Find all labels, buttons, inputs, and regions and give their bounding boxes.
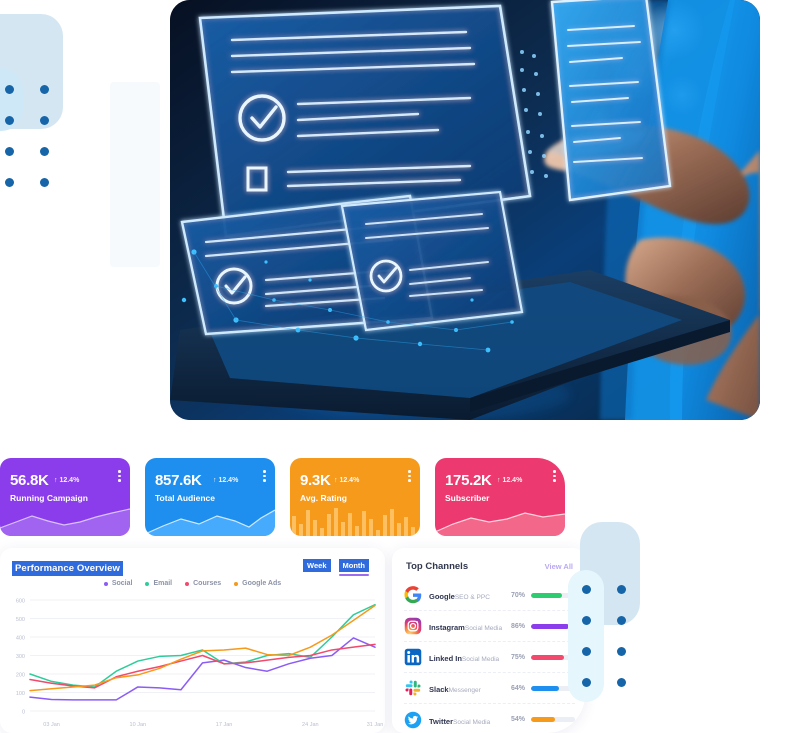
stat-card-row: 56.8K ↑ 12.4% Running Campaign 857.6K ↑ … xyxy=(0,458,585,536)
kebab-menu-icon[interactable] xyxy=(118,470,121,482)
stat-card-subscriber[interactable]: 175.2K ↑ 12.4% Subscriber xyxy=(435,458,565,536)
legend-label: Courses xyxy=(193,580,221,587)
dot-icon xyxy=(617,585,626,594)
sparkline-area xyxy=(145,504,275,536)
dot-icon xyxy=(617,616,626,625)
dot-icon xyxy=(40,147,49,156)
kebab-menu-icon[interactable] xyxy=(263,470,266,482)
panel-title: Top Channels xyxy=(406,561,468,572)
channel-row[interactable]: GoogleSEO & PPC70% xyxy=(404,580,575,611)
stat-delta: ↑ 12.4% xyxy=(213,477,238,484)
channel-percent: 86% xyxy=(505,623,525,630)
legend-item-email[interactable]: Email xyxy=(145,580,172,587)
dot-icon xyxy=(582,678,591,687)
svg-text:03 Jan: 03 Jan xyxy=(43,722,60,728)
svg-text:400: 400 xyxy=(16,636,25,642)
legend-item-courses[interactable]: Courses xyxy=(185,580,221,587)
dot-icon xyxy=(40,85,49,94)
channel-name: Twitter xyxy=(429,717,453,726)
channel-percent: 70% xyxy=(505,592,525,599)
legend-swatch-icon xyxy=(234,582,238,586)
sparkline-bars xyxy=(290,504,420,536)
range-toggle[interactable]: Week Month xyxy=(303,559,369,572)
page-root: 56.8K ↑ 12.4% Running Campaign 857.6K ↑ … xyxy=(0,0,800,733)
channel-name: Google xyxy=(429,592,455,601)
slack-icon xyxy=(404,679,422,697)
channel-percent: 64% xyxy=(505,685,525,692)
channel-text: InstagramSocial Media xyxy=(429,617,505,635)
linkedin-icon xyxy=(404,648,422,666)
stat-card-avg-rating[interactable]: 9.3K ↑ 12.4% Avg. Rating xyxy=(290,458,420,536)
stat-label: Running Campaign xyxy=(10,493,88,503)
performance-header: Performance Overview Week Month xyxy=(12,558,373,574)
legend-item-google-ads[interactable]: Google Ads xyxy=(234,580,281,587)
svg-text:31 Jan: 31 Jan xyxy=(367,722,384,728)
dot-icon xyxy=(582,616,591,625)
stat-delta: ↑ 12.4% xyxy=(334,477,359,484)
stat-value: 857.6K xyxy=(155,472,202,489)
svg-text:100: 100 xyxy=(16,691,25,697)
dot-icon xyxy=(582,647,591,656)
sparkline-area xyxy=(435,504,565,536)
stat-label: Total Audience xyxy=(155,493,215,503)
dashboard-mockup: 56.8K ↑ 12.4% Running Campaign 857.6K ↑ … xyxy=(0,440,600,733)
channel-category: Messenger xyxy=(449,687,481,694)
legend-label: Google Ads xyxy=(242,580,281,587)
dot-icon xyxy=(617,647,626,656)
stat-card-running-campaign[interactable]: 56.8K ↑ 12.4% Running Campaign xyxy=(0,458,130,536)
stat-card-total-audience[interactable]: 857.6K ↑ 12.4% Total Audience xyxy=(145,458,275,536)
legend-swatch-icon xyxy=(185,582,189,586)
line-chart: 010020030040050060003 Jan10 Jan17 Jan24 … xyxy=(0,594,385,733)
panel-title: Performance Overview xyxy=(12,561,123,576)
svg-text:600: 600 xyxy=(16,599,25,605)
svg-text:17 Jan: 17 Jan xyxy=(216,722,233,728)
dot-icon xyxy=(40,178,49,187)
hero-image xyxy=(170,0,760,420)
svg-text:0: 0 xyxy=(22,710,25,716)
channel-row[interactable]: TwitterSocial Media54% xyxy=(404,704,575,733)
performance-overview-panel: Performance Overview Week Month Social E… xyxy=(0,548,385,733)
instagram-icon xyxy=(404,617,422,635)
channel-name: Instagram xyxy=(429,623,465,632)
dot-icon xyxy=(5,178,14,187)
legend-item-social[interactable]: Social xyxy=(104,580,133,587)
view-all-link[interactable]: View All xyxy=(545,562,573,571)
channel-text: GoogleSEO & PPC xyxy=(429,586,505,604)
channel-list: GoogleSEO & PPC70%InstagramSocial Media8… xyxy=(404,580,575,733)
svg-text:10 Jan: 10 Jan xyxy=(130,722,147,728)
dot-icon xyxy=(617,678,626,687)
sparkline-area xyxy=(0,504,130,536)
top-channels-panel: Top Channels View All GoogleSEO & PPC70%… xyxy=(392,548,585,733)
channel-percent: 54% xyxy=(505,716,525,723)
channel-row[interactable]: Linked InSocial Media75% xyxy=(404,642,575,673)
channel-text: Linked InSocial Media xyxy=(429,648,505,666)
channel-category: Social Media xyxy=(453,719,490,726)
legend-label: Email xyxy=(153,580,172,587)
kebab-menu-icon[interactable] xyxy=(553,470,556,482)
stat-value: 9.3K xyxy=(300,472,331,489)
range-option-week[interactable]: Week xyxy=(303,559,330,572)
dot-icon xyxy=(5,116,14,125)
dot-icon xyxy=(5,147,14,156)
decor-dot-grid-right xyxy=(582,585,626,687)
stat-delta: ↑ 12.4% xyxy=(54,477,79,484)
channel-name: Linked In xyxy=(429,654,462,663)
channel-name: Slack xyxy=(429,685,449,694)
dot-icon xyxy=(5,85,14,94)
svg-text:300: 300 xyxy=(16,654,25,660)
channel-text: SlackMessenger xyxy=(429,679,505,697)
channel-row[interactable]: SlackMessenger64% xyxy=(404,673,575,704)
stat-delta: ↑ 12.4% xyxy=(497,477,522,484)
stat-label: Subscriber xyxy=(445,493,489,503)
twitter-icon xyxy=(404,711,422,729)
kebab-menu-icon[interactable] xyxy=(408,470,411,482)
legend-swatch-icon xyxy=(145,582,149,586)
hero-illustration xyxy=(170,0,760,420)
svg-text:500: 500 xyxy=(16,617,25,623)
stat-value: 56.8K xyxy=(10,472,49,489)
channel-progress-bar xyxy=(531,717,575,722)
decor-dot-grid-left xyxy=(5,85,49,187)
channel-text: TwitterSocial Media xyxy=(429,711,505,729)
channel-category: SEO & PPC xyxy=(455,594,490,601)
channel-category: Social Media xyxy=(465,625,502,632)
dot-icon xyxy=(40,116,49,125)
channel-category: Social Media xyxy=(462,656,499,663)
stat-value: 175.2K xyxy=(445,472,492,489)
decor-panel-left-ghost xyxy=(110,82,160,267)
legend-label: Social xyxy=(112,580,133,587)
top-channels-header: Top Channels View All xyxy=(406,561,573,572)
chart-legend: Social Email Courses Google Ads xyxy=(0,580,385,587)
channel-row[interactable]: InstagramSocial Media86% xyxy=(404,611,575,642)
dot-icon xyxy=(582,585,591,594)
legend-swatch-icon xyxy=(104,582,108,586)
svg-text:200: 200 xyxy=(16,673,25,679)
channel-percent: 75% xyxy=(505,654,525,661)
google-icon xyxy=(404,586,422,604)
line-chart-svg: 010020030040050060003 Jan10 Jan17 Jan24 … xyxy=(0,594,385,733)
range-option-month[interactable]: Month xyxy=(339,559,370,572)
svg-text:24 Jan: 24 Jan xyxy=(302,722,319,728)
stat-label: Avg. Rating xyxy=(300,493,347,503)
